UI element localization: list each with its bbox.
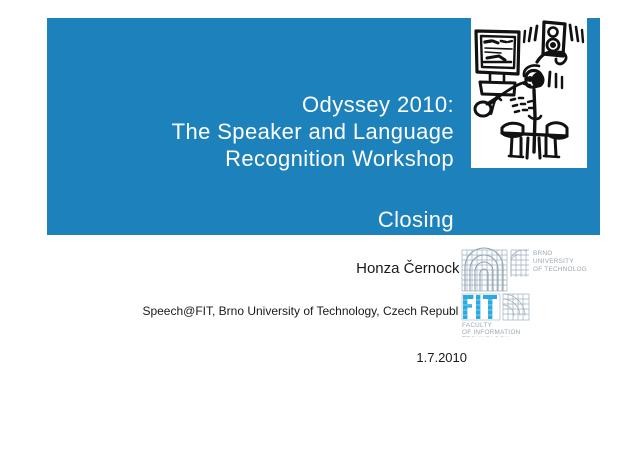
logo-faculty-line-2: OF INFORMATION (462, 329, 521, 336)
logo-university-line-2: UNIVERSITY (533, 258, 574, 265)
brno-university-of-technology-fit-logo: BRNO UNIVERSITY OF TECHNOLOGY (459, 247, 587, 337)
subtitle-block: Closing (34, 206, 454, 233)
title-line-1: Odyssey 2010: (34, 91, 454, 118)
logo-faculty-line-1: FACULTY (462, 322, 493, 329)
subtitle: Closing (34, 206, 454, 233)
affiliation: Speech@FIT, Brno University of Technolog… (0, 303, 467, 319)
title-line-3: Recognition Workshop (34, 145, 454, 172)
logo-faculty-line-3: TECHNOLOGY (462, 336, 510, 337)
speech-research-sketch-image (471, 16, 587, 168)
title-line-2: The Speaker and Language (34, 118, 454, 145)
title-block: Odyssey 2010: The Speaker and Language R… (34, 91, 454, 172)
logo-university-line-3: OF TECHNOLOGY (533, 266, 587, 273)
logo-university-line-1: BRNO (533, 250, 552, 257)
date: 1.7.2010 (0, 349, 467, 367)
speech-research-sketch-icon (471, 16, 587, 168)
but-fit-logo-icon: BRNO UNIVERSITY OF TECHNOLOGY (459, 247, 587, 337)
author-name: Honza Černocký (0, 259, 467, 279)
